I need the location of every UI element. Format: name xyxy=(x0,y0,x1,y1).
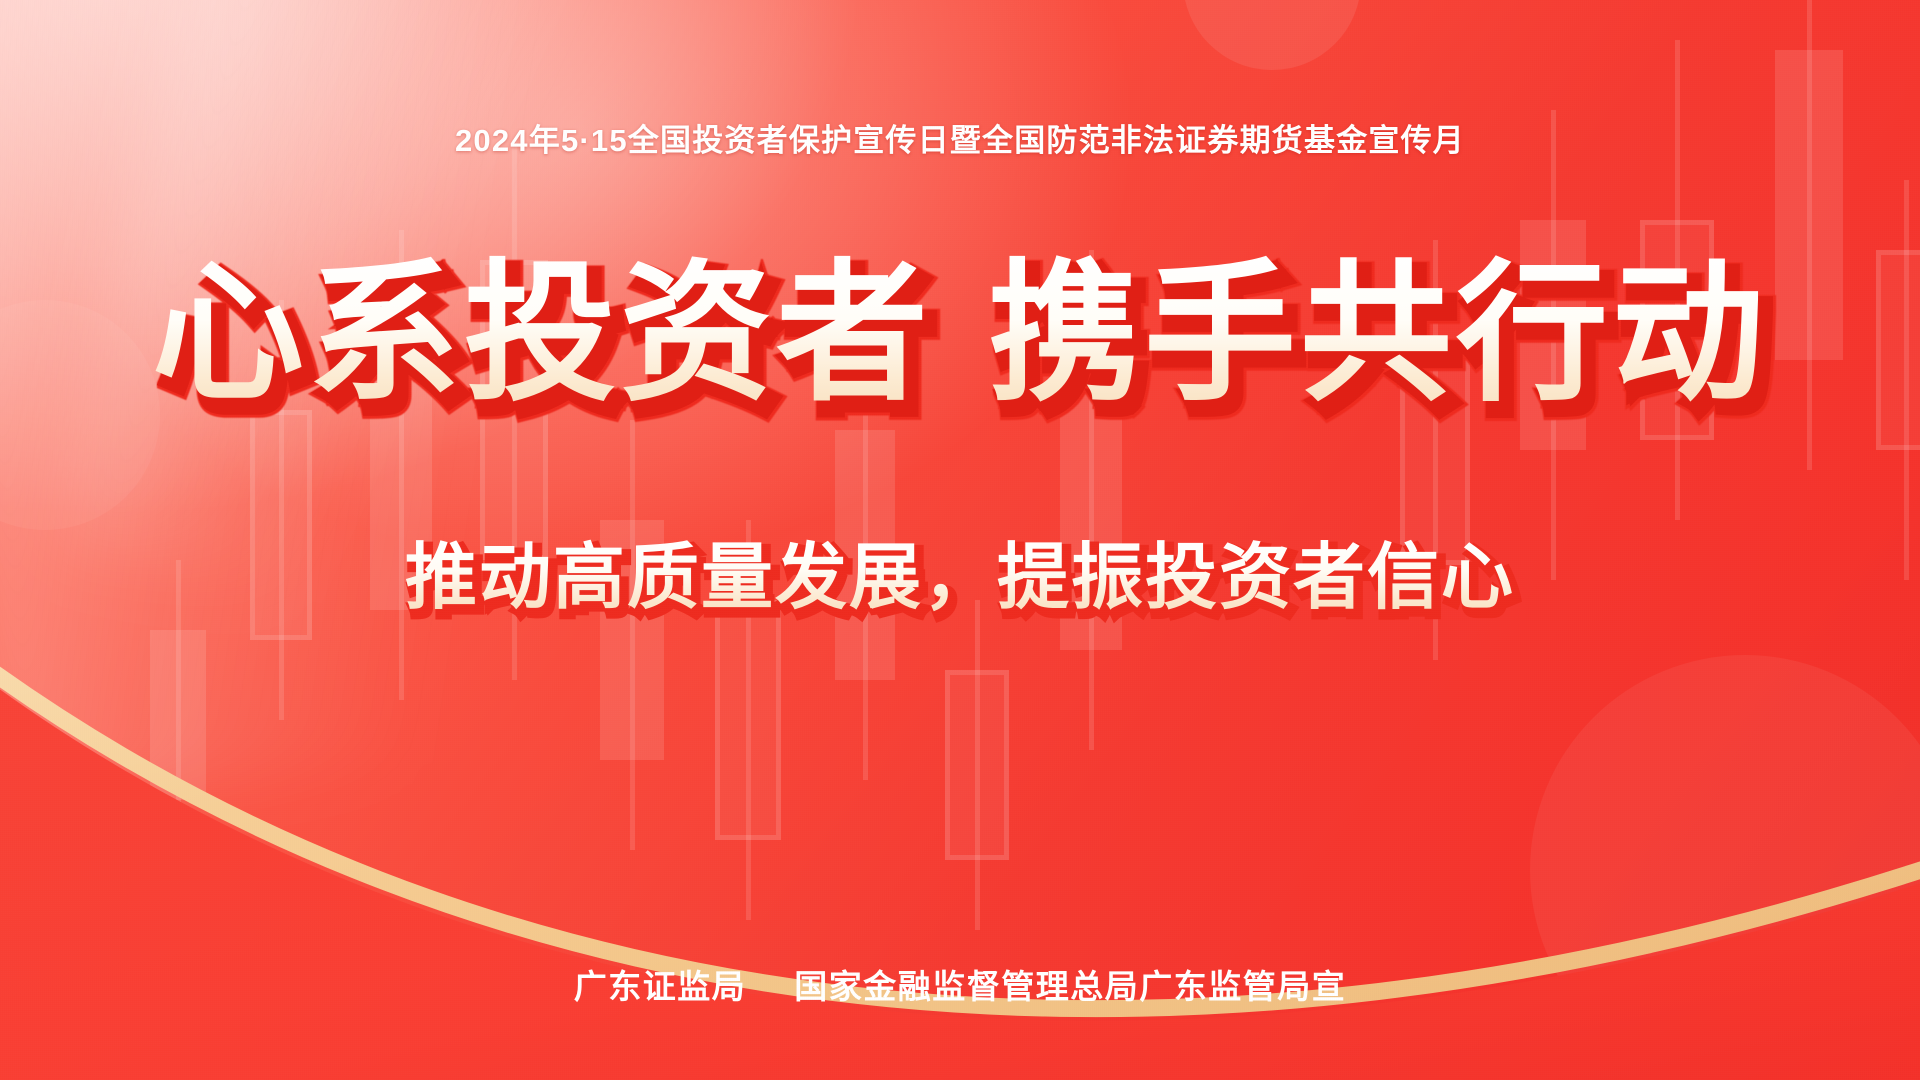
candlestick xyxy=(600,420,664,850)
candlestick xyxy=(945,600,1009,930)
footer-org-left: 广东证监局 xyxy=(574,968,747,1005)
event-header-line: 2024年5·15全国投资者保护宣传日暨全国防范非法证券期货基金宣传月 xyxy=(0,115,1920,160)
footer-organizations: 广东证监局国家金融监督管理总局广东监管局宣 xyxy=(0,960,1920,1008)
subtitle-face: 推动高质量发展，提振投资者信心 xyxy=(405,538,1515,618)
poster-canvas: 2024年5·15全国投资者保护宣传日暨全国防范非法证券期货基金宣传月 心系投资… xyxy=(0,0,1920,1080)
main-title-part2-face: 携手共行动 xyxy=(988,249,1768,419)
subtitle: 推动高质量发展，提振投资者信心 推动高质量发展，提振投资者信心 xyxy=(0,542,1920,614)
main-title: 心系投资者 心系投资者 心系投资者 携手共行动 携手共行动 携手共行动 xyxy=(0,258,1920,410)
subtitle-text: 推动高质量发展，提振投资者信心 推动高质量发展，提振投资者信心 xyxy=(405,542,1515,614)
main-title-part1: 心系投资者 心系投资者 心系投资者 xyxy=(152,258,932,410)
footer-org-right: 国家金融监督管理总局广东监管局宣 xyxy=(794,968,1346,1005)
main-title-part1-face: 心系投资者 xyxy=(152,249,932,419)
main-title-part2: 携手共行动 携手共行动 携手共行动 xyxy=(988,258,1768,410)
